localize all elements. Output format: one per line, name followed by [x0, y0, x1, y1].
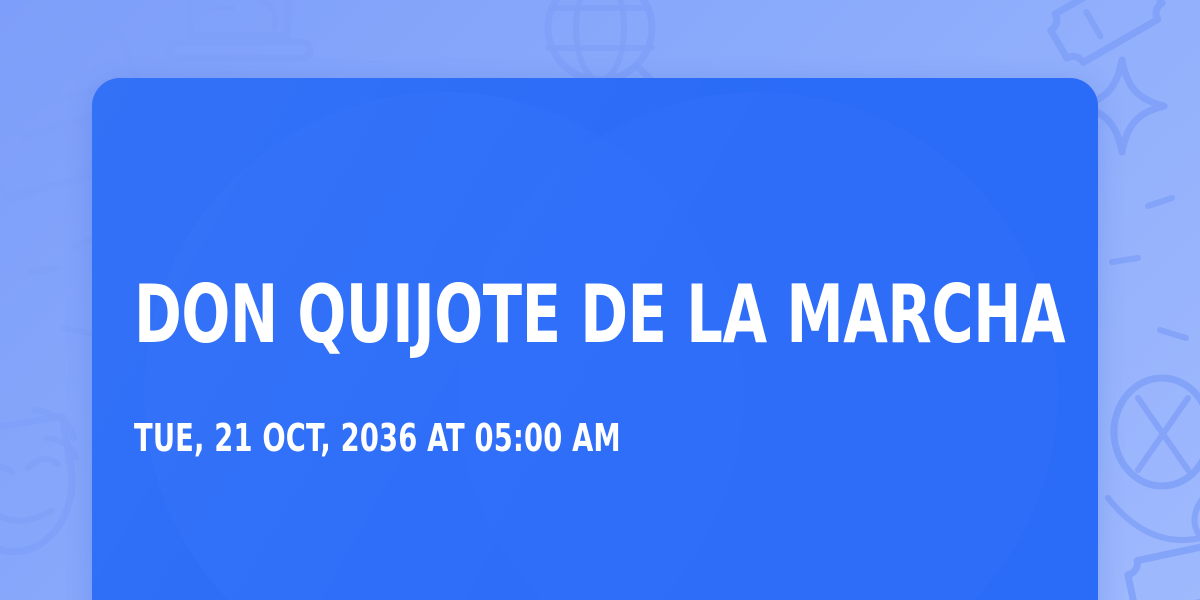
event-datetime: TUE, 21 OCT, 2036 AT 05:00 AM [134, 418, 621, 460]
event-card[interactable]: DON QUIJOTE DE LA MARCHA TUE, 21 OCT, 20… [92, 78, 1098, 600]
card-content: DON QUIJOTE DE LA MARCHA TUE, 21 OCT, 20… [134, 78, 1058, 600]
sparkle-icon [26, 0, 94, 40]
confetti-dash-icon [1112, 198, 1186, 338]
ticket-stub-icon [1045, 0, 1168, 68]
balloon-icon [1114, 378, 1200, 486]
theatre-masks-icon [0, 410, 76, 552]
ribbon-swirl-icon [1108, 491, 1200, 554]
event-title: DON QUIJOTE DE LA MARCHA [134, 274, 1065, 356]
confetti-dash-icon [10, 160, 98, 334]
banner-canvas: DON QUIJOTE DE LA MARCHA TUE, 21 OCT, 20… [0, 0, 1200, 600]
ticket-stub-icon [1125, 541, 1200, 600]
laptop-icon [168, 0, 310, 58]
